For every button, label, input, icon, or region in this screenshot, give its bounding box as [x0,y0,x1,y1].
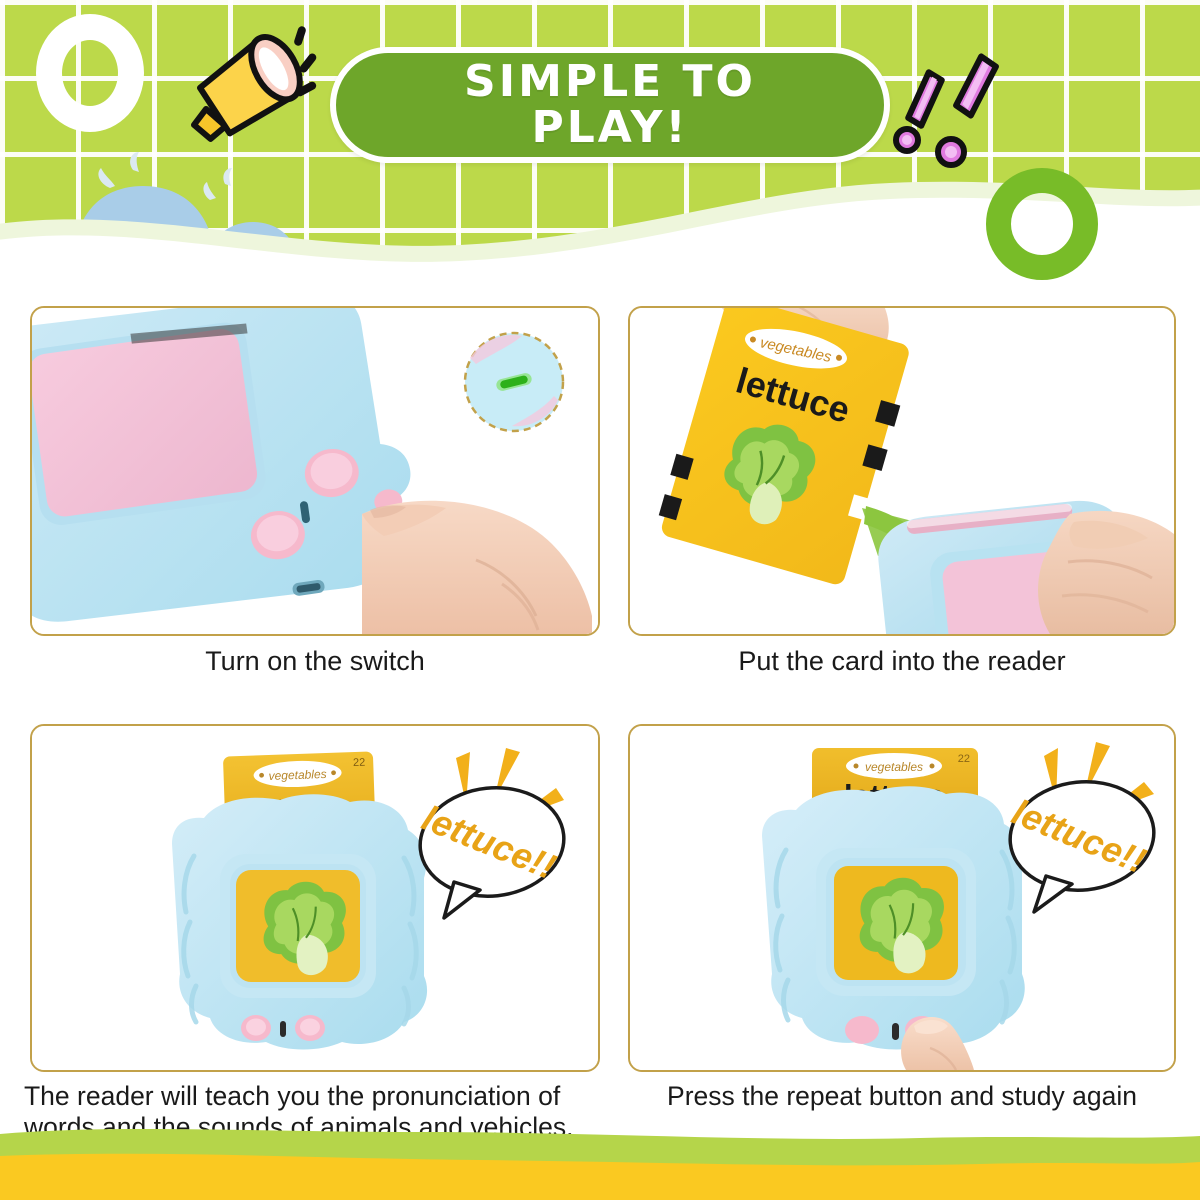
repeat-button-photo: vegetables 22 lettuce [628,724,1176,1072]
white-ring-icon [36,14,144,132]
step-1: Turn on the switch [30,306,600,678]
step-2-caption: Put the card into the reader [628,645,1176,678]
page-title-banner: SIMPLE TO PLAY! [330,47,890,163]
step-2: vegetables lettuce [628,306,1176,678]
bottom-bands [0,1110,1200,1200]
page-title-line1: SIMPLE TO [464,59,756,105]
card4-number-text: 22 [958,753,970,765]
green-ring-icon [986,168,1098,280]
device-switch-photo [30,306,600,636]
reader-speaking-photo: vegetables 22 lettuce [30,724,600,1072]
page-title-line2: PLAY! [464,105,756,151]
step-4: vegetables 22 lettuce [628,724,1176,1112]
megaphone-icon [168,24,318,154]
step-3: vegetables 22 lettuce [30,724,600,1143]
card3-category-text: vegetables [268,767,327,783]
card3-number-text: 22 [353,757,366,769]
header-banner: SIMPLE TO PLAY! [0,0,1200,285]
step-1-caption: Turn on the switch [30,645,600,678]
page-title: SIMPLE TO PLAY! [464,59,756,151]
card4-category-text: vegetables [865,760,923,774]
step-4-caption: Press the repeat button and study again [628,1081,1176,1112]
insert-card-photo: vegetables lettuce [628,306,1176,636]
page-root: SIMPLE TO PLAY! [0,0,1200,1200]
steps-grid: Turn on the switch [0,296,1200,1141]
